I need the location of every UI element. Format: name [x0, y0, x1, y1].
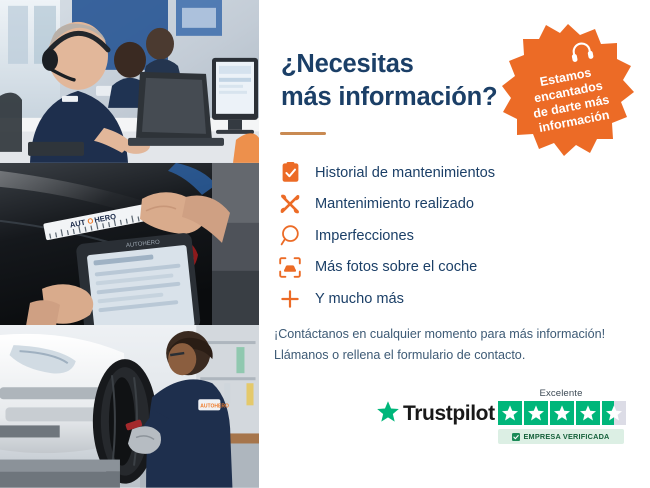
car-scan-icon — [273, 254, 307, 280]
promo-badge: Estamos encantados de darte más informac… — [500, 22, 636, 158]
feature-label: Historial de mantenimientos — [307, 165, 495, 181]
verified-business-label: EMPRESA VERIFICADA — [523, 432, 609, 441]
feature-list: Historial de mantenimientos M — [273, 157, 643, 315]
content-panel: ¿Necesitas más información? Estamos enca… — [259, 0, 650, 488]
contact-line-2: Llámanos o rellena el formulario de cont… — [274, 345, 639, 366]
photo-column: AUT O HERO AUTOHERO — [0, 0, 259, 488]
promo-badge-text: Estamos encantados de darte más informac… — [488, 10, 647, 169]
rating-star-3 — [550, 401, 574, 425]
verified-check-icon — [512, 428, 520, 446]
verified-business-badge: EMPRESA VERIFICADA — [498, 429, 624, 444]
photo-inspector-measuring-car-with-tablet: AUT O HERO AUTOHERO — [0, 163, 259, 326]
contact-paragraph: ¡Contáctanos en cualquier momento para m… — [274, 324, 639, 366]
trustpilot-rating: Excelente — [498, 388, 638, 444]
rating-star-5-half — [602, 401, 626, 425]
headline-line-2: más información? — [281, 81, 531, 114]
feature-item-much-more: Y mucho más — [273, 283, 643, 315]
clipboard-check-icon — [273, 160, 307, 186]
feature-item-maintenance-history: Historial de mantenimientos — [273, 157, 643, 189]
rating-star-1 — [498, 401, 522, 425]
contact-line-1: ¡Contáctanos en cualquier momento para m… — [274, 324, 639, 345]
tools-crossed-icon — [273, 191, 307, 217]
feature-label: Mantenimiento realizado — [307, 196, 474, 212]
trustpilot-wordmark: Trustpilot — [400, 402, 495, 426]
title-divider — [280, 132, 326, 135]
trustpilot-logo: Trustpilot — [376, 400, 495, 428]
rating-star-4 — [576, 401, 600, 425]
feature-item-imperfections: Imperfecciones — [273, 220, 643, 252]
trustpilot-widget[interactable]: Trustpilot Excelente — [376, 388, 638, 450]
trustpilot-star-icon — [376, 400, 400, 428]
information-request-banner: AUT O HERO AUTOHERO — [0, 0, 650, 488]
svg-text:AUTOHERO: AUTOHERO — [200, 404, 229, 410]
trustpilot-rating-label: Excelente — [498, 388, 624, 399]
photo-mechanic-inspecting-tire-on-lift: AUTOHERO — [0, 325, 259, 488]
rating-star-2 — [524, 401, 548, 425]
plus-icon — [273, 286, 307, 312]
feature-item-maintenance-performed: Mantenimiento realizado — [273, 189, 643, 221]
feature-label: Y mucho más — [307, 291, 404, 307]
feature-item-more-car-photos: Más fotos sobre el coche — [273, 252, 643, 284]
trustpilot-star-rating — [498, 401, 638, 425]
magnifier-icon — [273, 223, 307, 249]
feature-label: Más fotos sobre el coche — [307, 259, 477, 275]
feature-label: Imperfecciones — [307, 228, 414, 244]
photo-call-center-agents-with-headsets — [0, 0, 259, 163]
